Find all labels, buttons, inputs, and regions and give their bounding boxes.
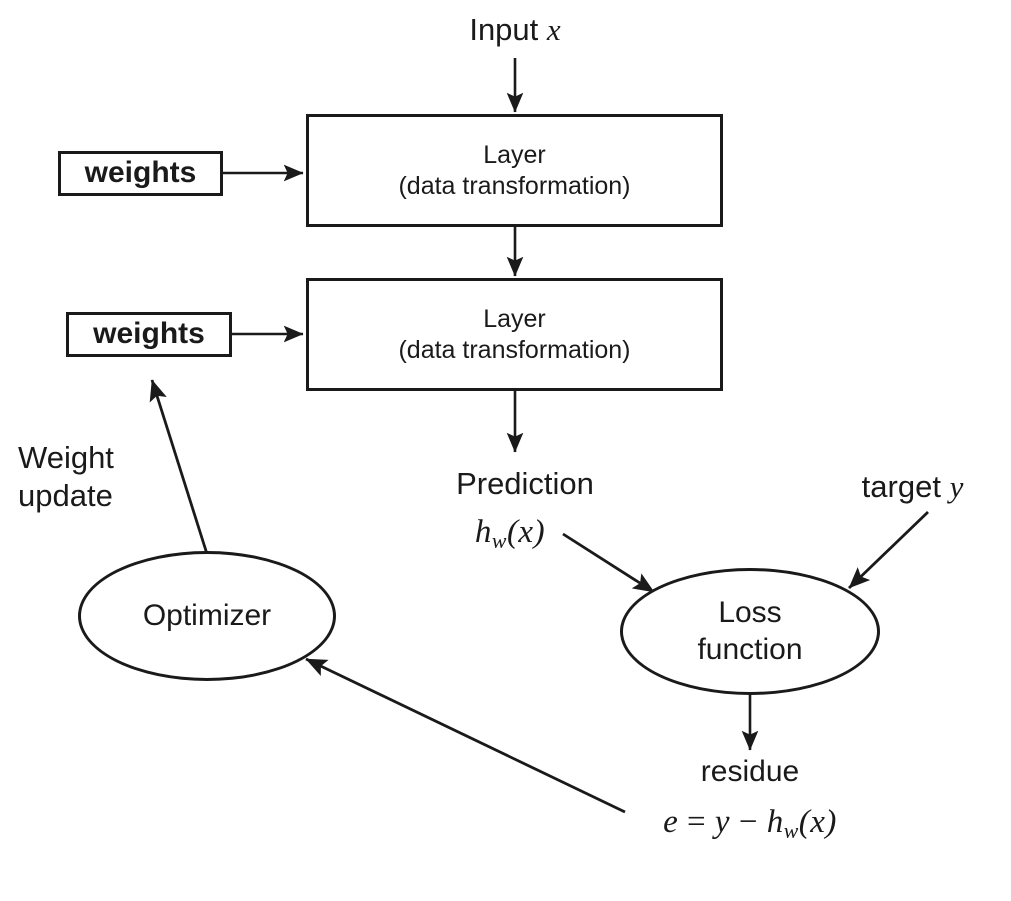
residue-eq-y: y <box>715 804 730 840</box>
layer-box-1[interactable]: Layer (data transformation) <box>306 114 723 227</box>
input-label-text: Input <box>469 12 538 47</box>
edge-target-to-loss <box>849 512 928 588</box>
edge-residue-to-optimizer <box>306 659 625 812</box>
weights-box-2[interactable]: weights <box>66 312 232 357</box>
layer-box-1-line1: Layer <box>483 140 546 171</box>
residue-eq-arg: (x) <box>799 804 837 840</box>
loss-function-line1: Loss <box>718 595 781 632</box>
residue-equation: e = y − hw(x) <box>600 800 900 846</box>
optimizer-node[interactable]: Optimizer <box>78 551 336 681</box>
residue-eq-equals: = <box>678 804 715 840</box>
loss-function-line2: function <box>697 632 802 669</box>
weight-update-line1: Weight <box>18 439 114 477</box>
layer-box-1-line2: (data transformation) <box>398 171 630 202</box>
residue-label: residue <box>655 752 845 792</box>
target-variable: y <box>950 469 964 504</box>
target-label-text: target <box>862 469 941 504</box>
residue-eq-e: e <box>663 804 678 840</box>
prediction-label: Prediction <box>410 464 640 504</box>
residue-eq-subscript: w <box>784 819 799 843</box>
residue-eq-h: h <box>767 804 784 840</box>
prediction-formula: hw(x) <box>410 512 610 554</box>
prediction-formula-arg: (x) <box>507 514 545 550</box>
weights-box-2-label: weights <box>93 316 205 353</box>
diagram-canvas: Input x Layer (data transformation) weig… <box>0 0 1011 901</box>
optimizer-label: Optimizer <box>143 598 271 635</box>
prediction-formula-subscript: w <box>492 529 507 553</box>
loss-function-node[interactable]: Loss function <box>620 568 880 695</box>
weights-box-1-label: weights <box>85 155 197 192</box>
weights-box-1[interactable]: weights <box>58 151 223 196</box>
target-label: target y <box>820 466 1005 508</box>
layer-box-2[interactable]: Layer (data transformation) <box>306 278 723 391</box>
residue-eq-minus: − <box>730 804 767 840</box>
prediction-formula-h: h <box>475 514 492 550</box>
weight-update-line2: update <box>18 477 113 515</box>
layer-box-2-line1: Layer <box>483 304 546 335</box>
layer-box-2-line2: (data transformation) <box>398 335 630 366</box>
input-variable: x <box>547 12 561 47</box>
residue-label-text: residue <box>701 754 799 791</box>
weight-update-label: Weight update <box>18 432 198 522</box>
prediction-label-text: Prediction <box>456 465 594 503</box>
input-label: Input x <box>420 8 610 52</box>
